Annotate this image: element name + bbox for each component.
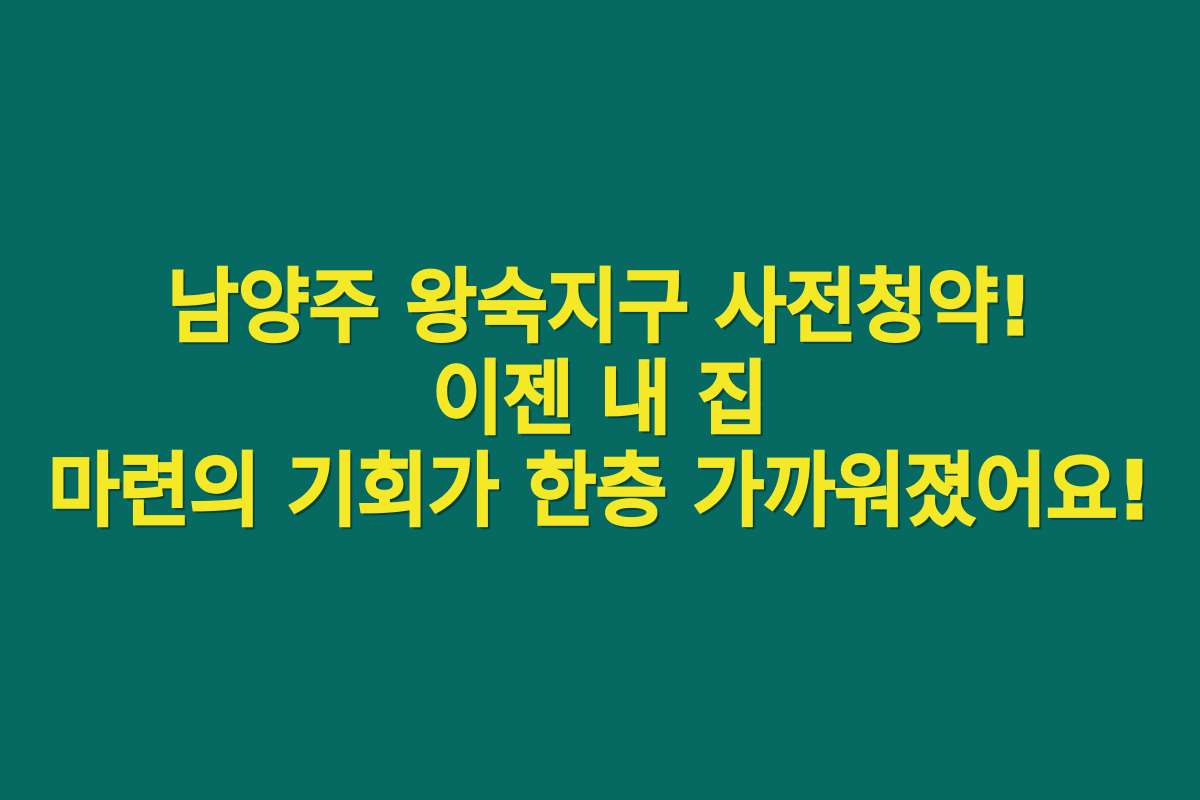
promo-banner: 남양주 왕숙지구 사전청약! 이젠 내 집 마련의 기회가 한층 가까워졌어요!	[0, 0, 1200, 800]
headline-line-1: 남양주 왕숙지구 사전청약!	[20, 262, 1180, 354]
headline-block: 남양주 왕숙지구 사전청약! 이젠 내 집 마련의 기회가 한층 가까워졌어요!	[0, 262, 1200, 538]
headline-line-2: 이젠 내 집	[20, 354, 1180, 446]
headline-line-3: 마련의 기회가 한층 가까워졌어요!	[20, 446, 1180, 538]
